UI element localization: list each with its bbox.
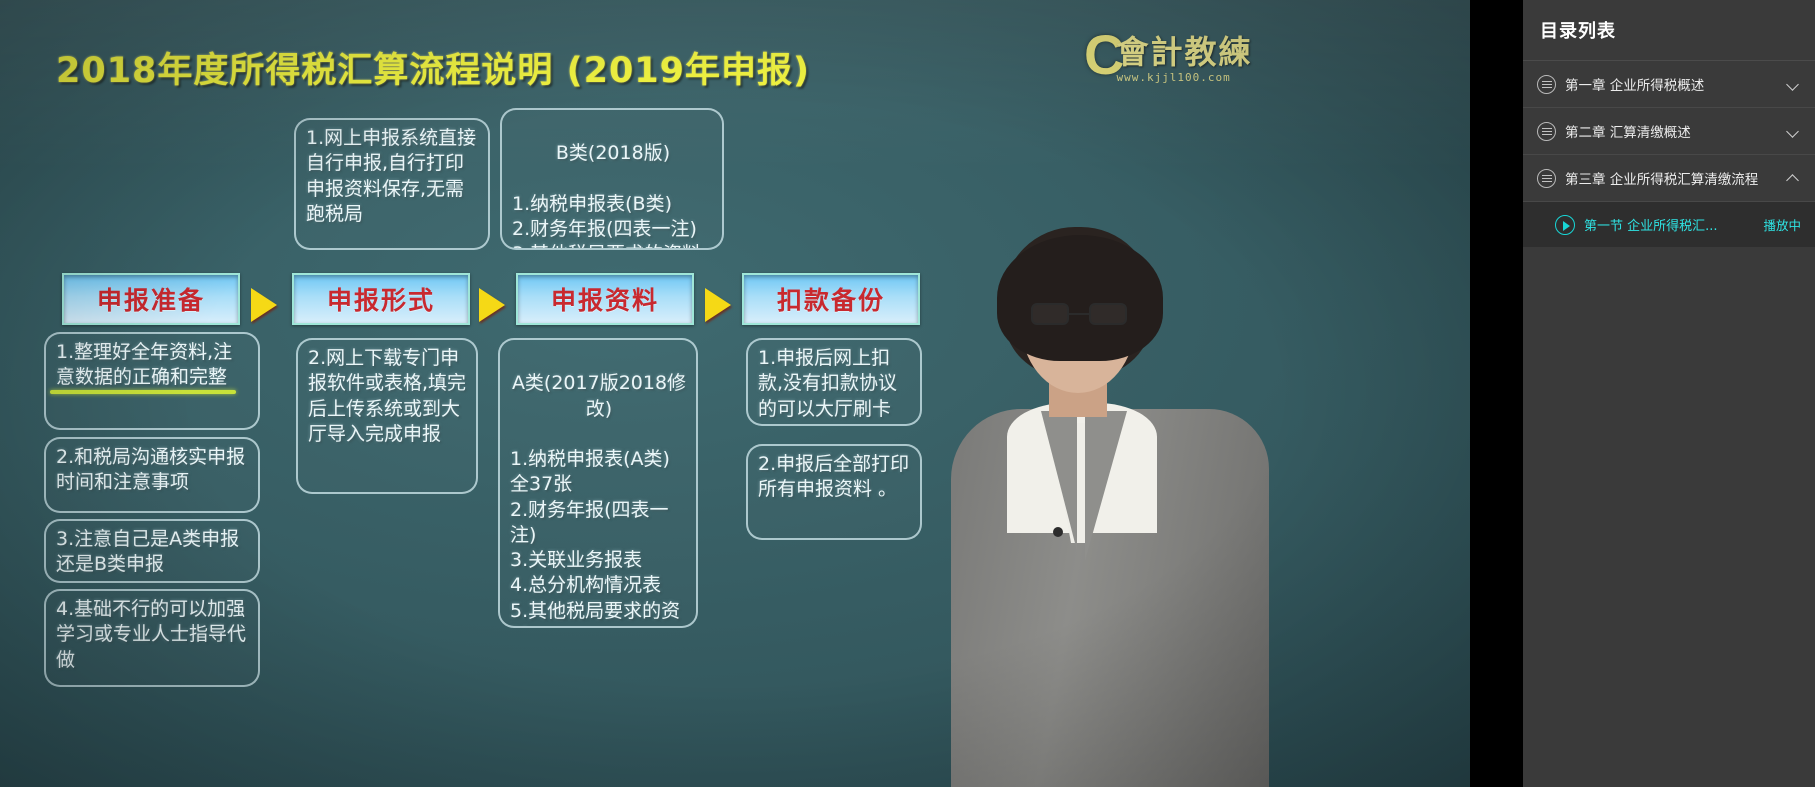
materials-box: A类(2017版2018修改) 1.纳税申报表(A类)全37张 2.财务年报(四…	[498, 338, 698, 628]
presenter-hair-front	[997, 235, 1163, 361]
payment-item-1: 1.申报后网上扣款,没有扣款协议的可以大厅刷卡	[746, 338, 922, 426]
stage-filing-materials-label: 申报资料	[551, 281, 659, 317]
type-b-materials-box: B类(2018版) 1.纳税申报表(B类) 2.财务年报(四表一注) 3.其他税…	[500, 108, 724, 250]
filing-form-top-note: 1.网上申报系统直接自行申报,自行打印申报资料保存,无需跑税局	[294, 118, 490, 250]
sidebar-chapter-2-label: 第二章 汇算清缴概述	[1565, 121, 1785, 141]
presenter-lapel-right	[1085, 411, 1127, 561]
list-icon	[1537, 169, 1556, 188]
sidebar-chapter-3-label: 第三章 企业所得税汇算清缴流程	[1565, 168, 1785, 188]
list-icon	[1537, 122, 1556, 141]
chevron-down-icon[interactable]	[1785, 76, 1801, 92]
stage-filing-form[interactable]: 申报形式	[292, 273, 470, 325]
sidebar-title: 目录列表	[1523, 0, 1815, 61]
stage-filing-form-label: 申报形式	[327, 281, 435, 317]
sidebar-lesson-1-label: 第一节 企业所得税汇...	[1584, 215, 1757, 234]
sidebar-empty-area	[1523, 247, 1815, 787]
stage-payment-backup[interactable]: 扣款备份	[742, 273, 920, 325]
presenter-figure	[945, 227, 1275, 787]
video-player-page: 2018年度所得税汇算流程说明 (2019年申报) C 會計教練 www.kjj…	[0, 0, 1815, 787]
type-b-materials-text: 1.纳税申报表(B类) 2.财务年报(四表一注) 3.其他税局要求的资料	[512, 193, 701, 250]
flow-arrow-3	[705, 288, 731, 322]
sidebar-chapter-1-label: 第一章 企业所得税概述	[1565, 74, 1785, 94]
prep-item-1: 1.整理好全年资料,注意数据的正确和完整	[44, 332, 260, 430]
flow-arrow-1	[251, 288, 277, 322]
chevron-down-icon[interactable]	[1785, 123, 1801, 139]
list-icon	[1537, 75, 1556, 94]
logo-name: 會計教練	[1116, 27, 1252, 73]
slide-title: 2018年度所得税汇算流程说明 (2019年申报)	[56, 42, 810, 93]
brand-logo: C 會計教練 www.kjjl100.com	[1084, 24, 1274, 86]
logo-url: www.kjjl100.com	[1116, 71, 1252, 84]
now-playing-badge: 播放中	[1763, 215, 1801, 234]
presenter-glasses	[1031, 303, 1127, 325]
type-b-materials-head: B类(2018版)	[512, 141, 714, 166]
sidebar-chapter-1[interactable]: 第一章 企业所得税概述	[1523, 61, 1815, 108]
prep-item-3: 3.注意自己是A类申报还是B类申报	[44, 519, 260, 583]
video-stage[interactable]: 2018年度所得税汇算流程说明 (2019年申报) C 會計教練 www.kjj…	[0, 0, 1470, 787]
play-circle-icon	[1555, 215, 1575, 235]
payment-item-2: 2.申报后全部打印所有申报资料 。	[746, 444, 922, 540]
prep-item-4: 4.基础不行的可以加强学习或专业人士指导代做	[44, 589, 260, 687]
course-outline-sidebar: 目录列表 第一章 企业所得税概述 第二章 汇算清缴概述 第三章 企业所得税汇算清…	[1523, 0, 1815, 787]
stage-filing-prep[interactable]: 申报准备	[62, 273, 240, 325]
materials-head: A类(2017版2018修改)	[510, 371, 688, 422]
prep-item-1-underline	[50, 390, 236, 394]
sidebar-chapter-3[interactable]: 第三章 企业所得税汇算清缴流程	[1523, 155, 1815, 202]
form-item-1: 2.网上下载专门申报软件或表格,填完后上传系统或到大厅导入完成申报	[296, 338, 478, 494]
materials-text: 1.纳税申报表(A类)全37张 2.财务年报(四表一注) 3.关联业务报表 4.…	[510, 448, 680, 628]
flow-arrow-2	[479, 288, 505, 322]
presenter-lapel-mic	[1053, 527, 1063, 537]
stage-payment-backup-label: 扣款备份	[777, 281, 885, 317]
stage-filing-materials[interactable]: 申报资料	[516, 273, 694, 325]
stage-filing-prep-label: 申报准备	[97, 281, 205, 317]
sidebar-lesson-1[interactable]: 第一节 企业所得税汇... 播放中	[1523, 202, 1815, 247]
prep-item-2: 2.和税局沟通核实申报时间和注意事项	[44, 437, 260, 513]
sidebar-chapter-2[interactable]: 第二章 汇算清缴概述	[1523, 108, 1815, 155]
letterbox-gutter	[1470, 0, 1523, 787]
chevron-up-icon[interactable]	[1785, 170, 1801, 186]
